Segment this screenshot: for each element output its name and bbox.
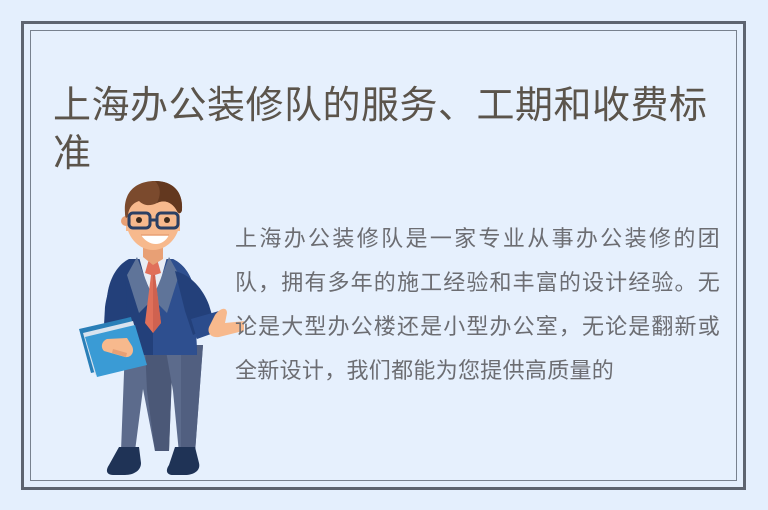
content-card: 上海办公装修队的服务、工期和收费标准 xyxy=(21,21,746,490)
body-paragraph: 上海办公装修队是一家专业从事办公装修的团队，拥有多年的施工经验和丰富的设计经验。… xyxy=(235,217,720,393)
businessman-presenting-illustration xyxy=(69,179,244,489)
content-row: 上海办公装修队是一家专业从事办公装修的团队，拥有多年的施工经验和丰富的设计经验。… xyxy=(31,179,736,480)
page-title: 上海办公装修队的服务、工期和收费标准 xyxy=(53,82,723,178)
inner-frame-border: 上海办公装修队的服务、工期和收费标准 xyxy=(30,30,737,481)
